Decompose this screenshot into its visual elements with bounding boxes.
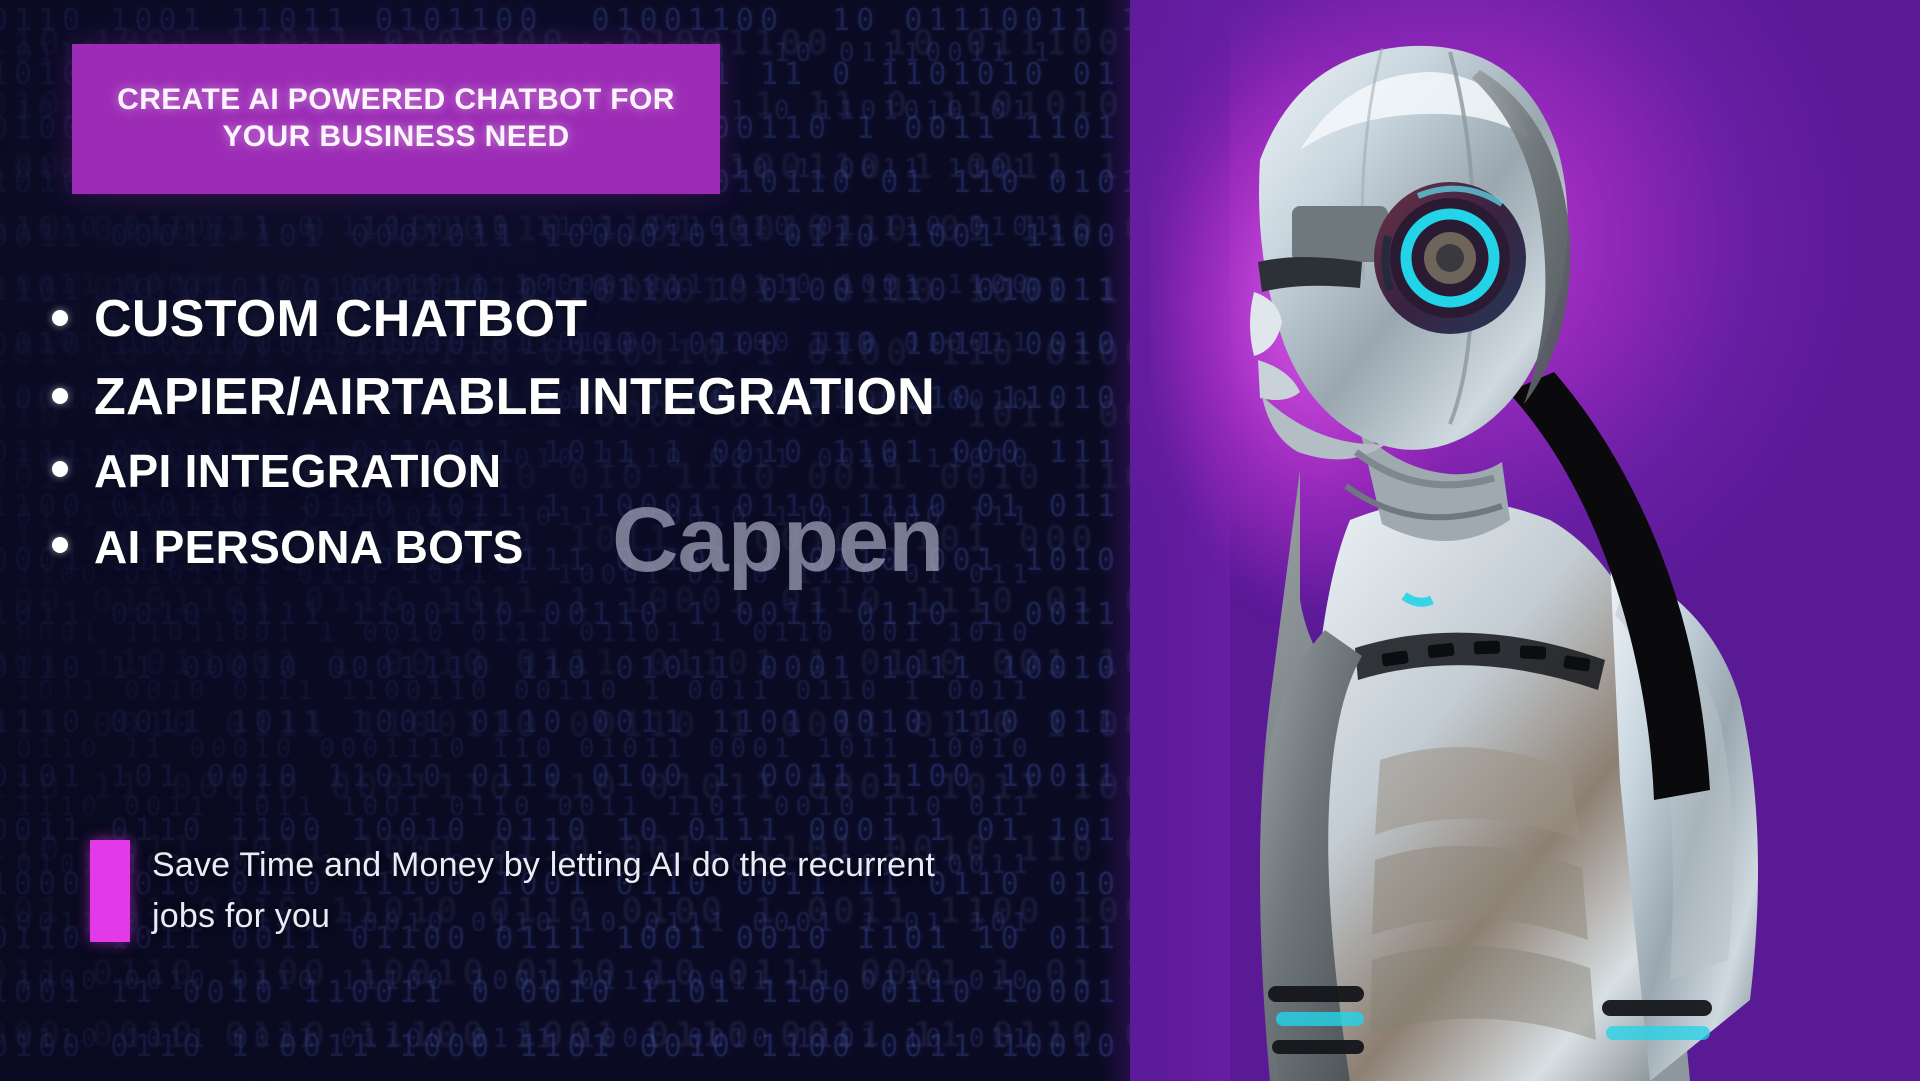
list-item: AI PERSONA BOTS [52, 517, 1012, 577]
tagline-text: Save Time and Money by letting AI do the… [152, 840, 970, 942]
title-banner: CREATE AI POWERED CHATBOT FOR YOUR BUSIN… [72, 44, 720, 194]
list-item: ZAPIER/AIRTABLE INTEGRATION [52, 365, 1012, 429]
feature-label: ZAPIER/AIRTABLE INTEGRATION [94, 365, 935, 429]
list-item: API INTEGRATION [52, 441, 1012, 501]
feature-label: CUSTOM CHATBOT [94, 287, 587, 351]
page-title: CREATE AI POWERED CHATBOT FOR YOUR BUSIN… [72, 82, 720, 155]
bullet-dot-icon [52, 310, 68, 326]
feature-list: CUSTOM CHATBOT ZAPIER/AIRTABLE INTEGRATI… [52, 287, 1012, 591]
feature-label: AI PERSONA BOTS [94, 517, 524, 577]
bullet-dot-icon [52, 537, 68, 553]
bullet-dot-icon [52, 388, 68, 404]
tagline-block: Save Time and Money by letting AI do the… [90, 840, 970, 942]
bullet-dot-icon [52, 461, 68, 477]
tagline-accent-bar [90, 840, 130, 942]
robot-illustration [1150, 0, 1770, 1081]
feature-label: API INTEGRATION [94, 441, 501, 501]
list-item: CUSTOM CHATBOT [52, 287, 1012, 351]
poster-canvas: 0110 1001 11011 0101100 01001100 10 0111… [0, 0, 1920, 1081]
